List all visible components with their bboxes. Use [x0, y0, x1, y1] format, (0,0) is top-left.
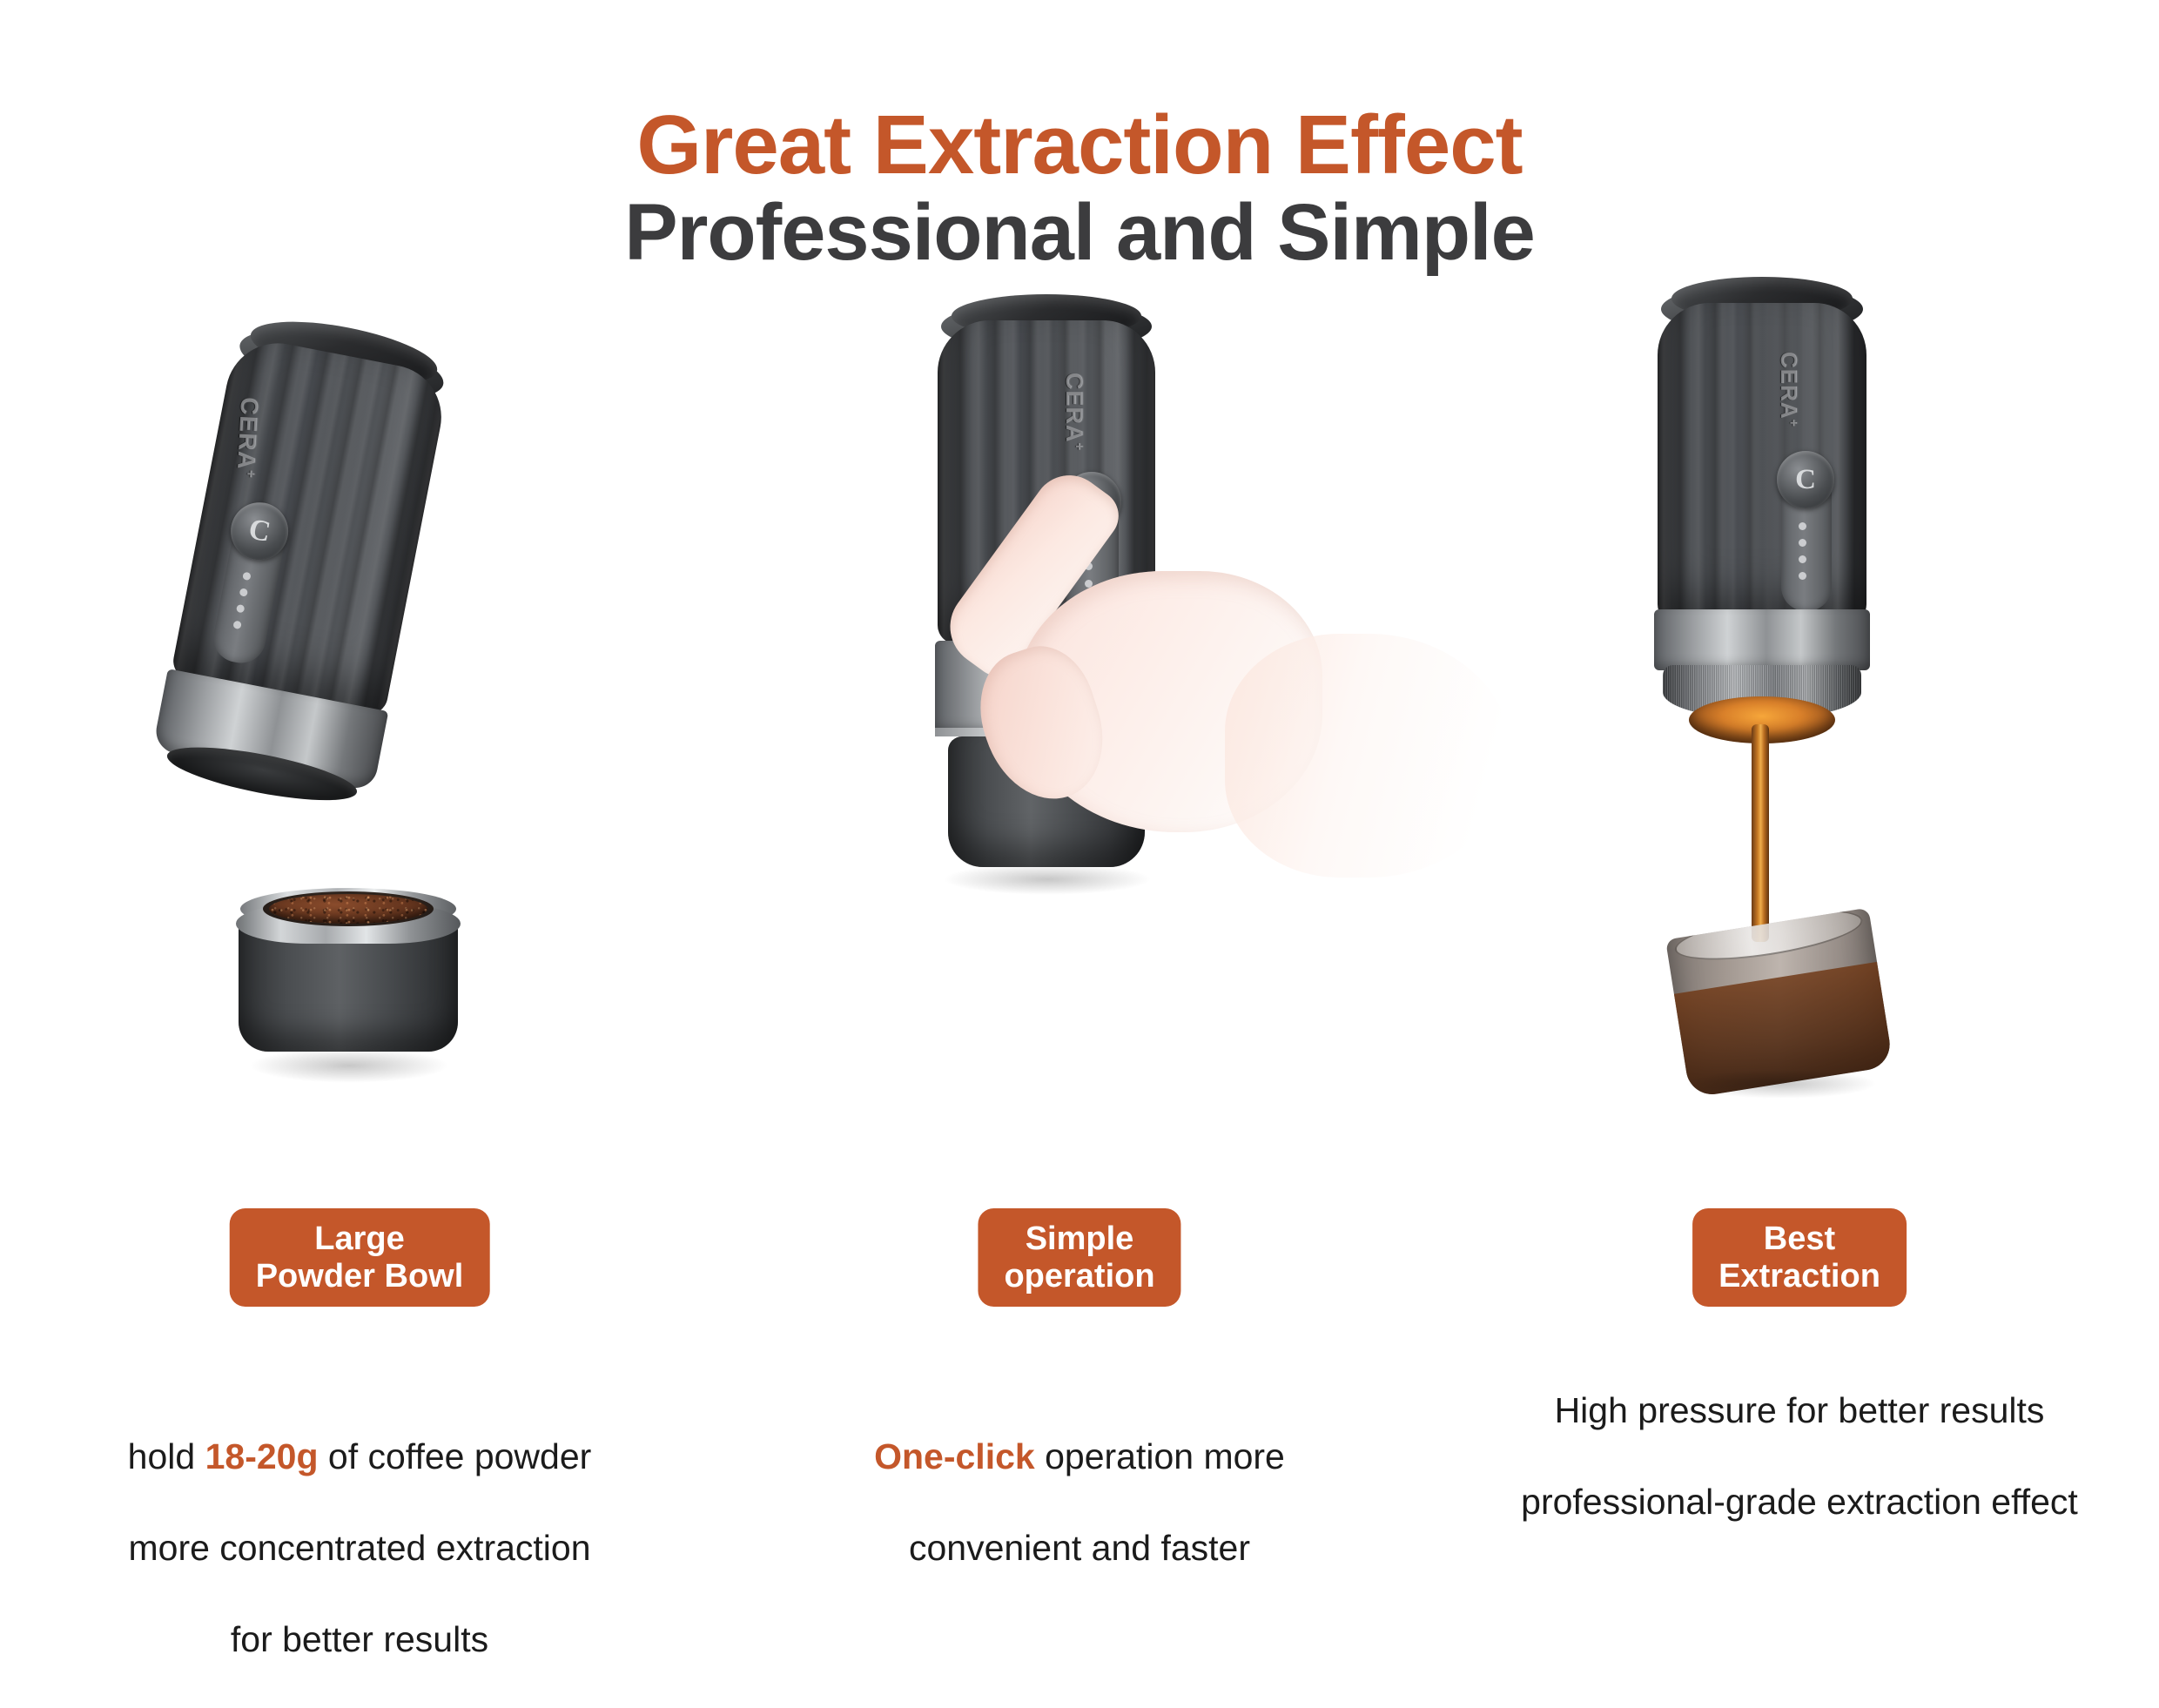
brand-superscript: + [1072, 443, 1086, 452]
caption-best-extraction: High pressure for better results profess… [1440, 1342, 2159, 1570]
brand-superscript: + [1786, 420, 1800, 427]
caption-line: for better results [0, 1617, 719, 1662]
brand-text: CERA [1776, 352, 1802, 420]
led-indicator-dots [1799, 522, 1806, 580]
caption-text: of coffee powder [319, 1436, 592, 1476]
power-button[interactable]: C [1777, 451, 1834, 508]
caption-line: hold 18-20g of coffee powder [0, 1388, 719, 1479]
caption-line: professional-grade extraction effect [1440, 1479, 2159, 1524]
product-illustration-simple-operation: CERA+ C [720, 331, 1439, 1201]
coffee-grounds [269, 894, 427, 924]
caption-line: One-click operation more [720, 1388, 1439, 1479]
brand-logo: CERA+ [232, 397, 264, 480]
product-illustration-powder-bowl: CERA+ C [0, 331, 719, 1201]
caption-text: operation more [1035, 1436, 1285, 1476]
caption-large-powder-bowl: hold 18-20g of coffee powder more concen… [0, 1342, 719, 1708]
powder-bowl [239, 871, 458, 1071]
caption-simple-operation: One-click operation more convenient and … [720, 1342, 1439, 1617]
caption-text: hold [128, 1436, 205, 1476]
machine-body [1658, 303, 1866, 623]
espresso-machine-tilted: CERA+ C [148, 329, 451, 832]
hand-pressing-button [999, 461, 1486, 914]
machine-collar [1654, 609, 1870, 670]
machine-flutes [170, 334, 450, 717]
caption-highlight: 18-20g [205, 1436, 319, 1476]
page-title-secondary: Professional and Simple [0, 188, 2159, 278]
feature-column-best-extraction: CERA+ C [1440, 331, 2159, 1497]
feature-column-large-powder-bowl: CERA+ C [0, 331, 719, 1497]
badge-simple-operation: Simple operation [978, 1208, 1180, 1307]
espresso-stream [1752, 724, 1769, 942]
feature-column-simple-operation: CERA+ C [720, 331, 1439, 1497]
brand-text: CERA [1061, 373, 1087, 443]
caption-highlight: One-click [874, 1436, 1035, 1476]
brand-logo: CERA+ [1060, 373, 1087, 451]
caption-line: High pressure for better results [1440, 1388, 2159, 1433]
powder-bowl-shadow [249, 1048, 449, 1083]
badge-best-extraction: Best Extraction [1692, 1208, 1907, 1307]
espresso-machine-pouring: CERA+ C [1658, 296, 1866, 818]
brand-logo: CERA+ [1775, 352, 1802, 427]
caption-line: convenient and faster [720, 1525, 1439, 1570]
feature-columns: CERA+ C [0, 331, 2159, 1497]
page-title-primary: Great Extraction Effect [0, 103, 2159, 188]
product-illustration-best-extraction: CERA+ C [1440, 331, 2159, 1201]
caption-line: more concentrated extraction [0, 1525, 719, 1570]
brand-text: CERA [232, 397, 263, 471]
power-button-glyph: C [245, 513, 272, 549]
machine-body [170, 334, 450, 717]
power-button-glyph: C [1795, 464, 1816, 496]
machine-flutes [1658, 303, 1866, 623]
badge-large-powder-bowl: Large Powder Bowl [230, 1208, 490, 1307]
cup-shadow [1685, 1069, 1877, 1099]
brand-superscript: + [243, 469, 259, 479]
heading-block: Great Extraction Effect Professional and… [0, 103, 2159, 278]
